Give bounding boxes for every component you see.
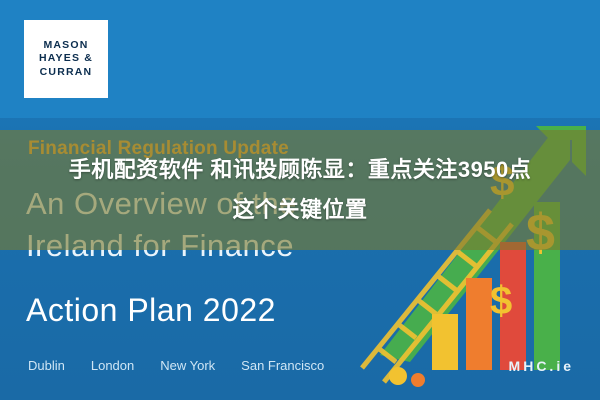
overlay-headline: 手机配资软件 和讯投顾陈显：重点关注3950点 这个关键位置 [0,150,600,230]
brand-mark: MHC.ie [509,358,574,374]
logo-line-1: MASON [43,39,88,52]
city-item: Dublin [28,358,65,373]
city-item: London [91,358,134,373]
mason-hayes-curran-logo: MASON HAYES & CURRAN [24,20,108,98]
overlay-headline-line-1: 手机配资软件 和讯投顾陈显：重点关注3950点 [0,150,600,190]
headline-line-3: Action Plan 2022 [26,292,276,329]
logo-line-3: CURRAN [40,66,93,79]
logo-line-2: HAYES & [39,52,93,65]
banner-image: $ $ $ MASON HAYES & CURRAN Financial Reg… [0,0,600,400]
city-list: Dublin London New York San Francisco [28,358,324,373]
city-item: San Francisco [241,358,324,373]
overlay-headline-line-2: 这个关键位置 [0,190,600,230]
city-item: New York [160,358,215,373]
svg-text:$: $ [490,279,512,323]
